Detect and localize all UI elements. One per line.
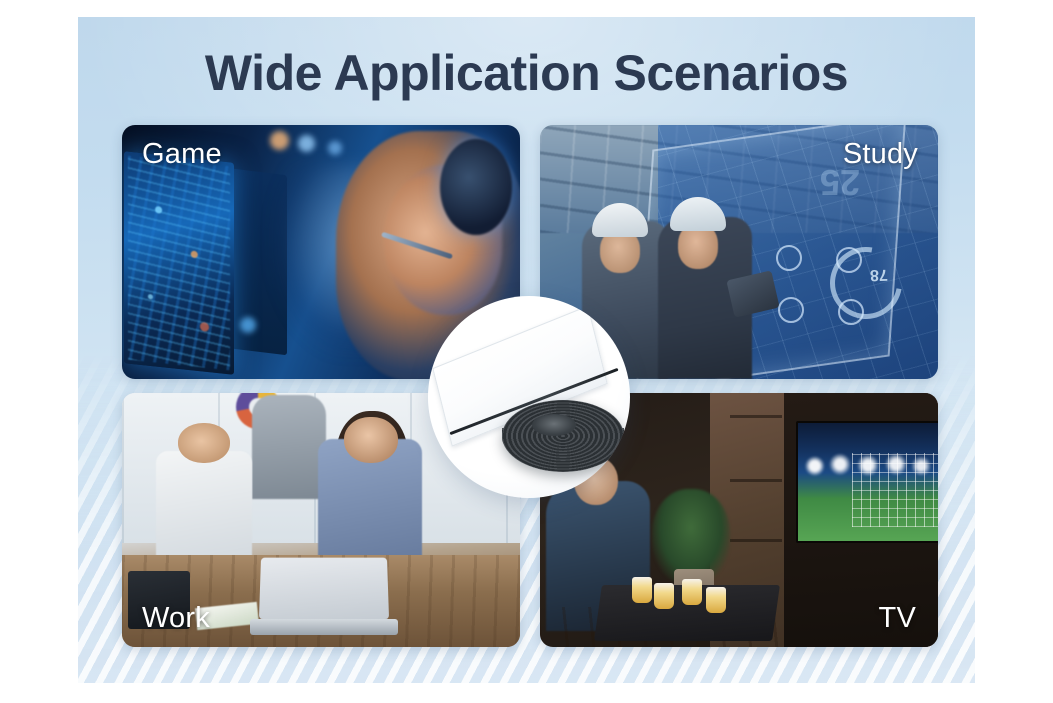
tv-beer-glass bbox=[706, 587, 726, 613]
tv-shelf-board bbox=[730, 415, 782, 418]
product-coaxial-cable-coil bbox=[502, 400, 624, 472]
work-person-man-face bbox=[178, 423, 230, 463]
scenario-label-game: Game bbox=[142, 138, 222, 171]
work-laptop-primary bbox=[250, 559, 398, 635]
tv-shelf-board bbox=[730, 539, 782, 542]
tv-beer-glass bbox=[654, 583, 674, 609]
work-laptop-screen bbox=[259, 558, 389, 620]
tv-beer-glass bbox=[682, 579, 702, 605]
game-bokeh-light bbox=[298, 135, 315, 152]
game-headset-earcup bbox=[440, 139, 512, 235]
tv-beer-glass bbox=[632, 577, 652, 603]
tv-television-screen bbox=[796, 421, 938, 543]
tv-goal-net bbox=[852, 453, 938, 527]
game-bokeh-light bbox=[270, 131, 289, 150]
scenario-label-tv: TV bbox=[879, 602, 916, 635]
work-laptop-keyboard bbox=[250, 619, 398, 635]
work-person-woman-face bbox=[344, 417, 398, 463]
work-standing-colleague bbox=[252, 395, 326, 499]
scenario-label-study: Study bbox=[843, 138, 918, 171]
tv-shelf-board bbox=[730, 479, 782, 482]
scenario-label-work: Work bbox=[142, 602, 210, 635]
game-bokeh-light bbox=[240, 317, 256, 333]
game-monitor-primary bbox=[124, 151, 234, 375]
scenarios-banner: Wide Application Scenarios Game bbox=[0, 0, 1053, 703]
page-title: Wide Application Scenarios bbox=[0, 44, 1053, 102]
product-inset-circle[interactable] bbox=[428, 296, 630, 498]
game-bokeh-light bbox=[328, 141, 342, 155]
